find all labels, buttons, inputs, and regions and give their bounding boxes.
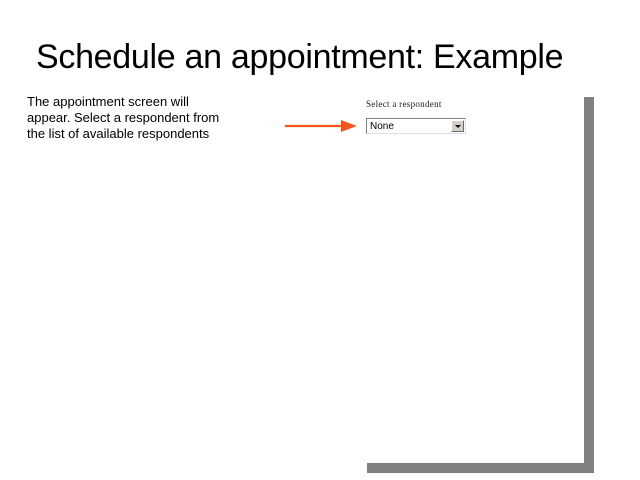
arrow-right-icon: [283, 116, 359, 136]
body-text-line: The appointment screen will: [27, 94, 255, 110]
body-text-line: appear. Select a respondent from: [27, 110, 255, 126]
chevron-down-glyph: [455, 125, 461, 128]
respondent-select-value: None: [370, 121, 394, 132]
inset-shadow-right: [584, 97, 594, 473]
body-text-line: the list of available respondents: [27, 126, 255, 142]
slide: Schedule an appointment: Example The app…: [0, 0, 640, 480]
respondent-form: Select a respondent None: [366, 99, 566, 134]
chevron-down-icon[interactable]: [451, 120, 464, 132]
screenshot-inset: Select a respondent None: [360, 93, 594, 473]
inset-canvas: Select a respondent None: [360, 93, 584, 463]
respondent-select-label: Select a respondent: [366, 99, 566, 110]
body-text: The appointment screen will appear. Sele…: [27, 94, 255, 142]
inset-shadow-bottom: [367, 463, 594, 473]
respondent-select[interactable]: None: [366, 118, 466, 134]
page-title: Schedule an appointment: Example: [36, 37, 616, 77]
